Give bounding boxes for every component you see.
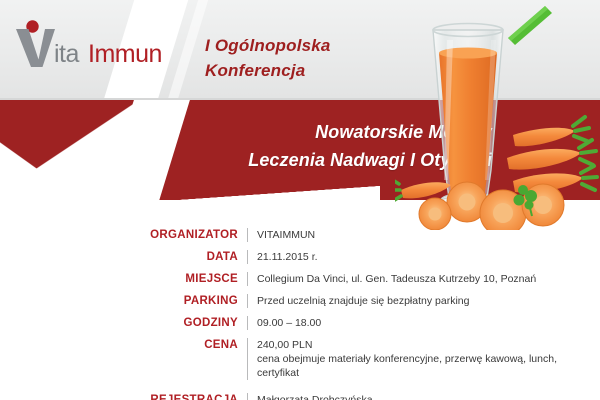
detail-value-miejsce-line1: Collegium Da Vinci, ul. Gen. Tadeusza Ku… <box>257 272 588 286</box>
vitaimmun-logo-icon: ita Immun <box>14 16 164 68</box>
details-table: ORGANIZATOR VITAIMMUN DATA 21.11.2015 r.… <box>128 228 588 400</box>
conference-title-line2: Konferencja <box>205 58 420 83</box>
detail-label-parking: PARKING <box>128 294 247 309</box>
banner-title-line2: Leczenia Nadwagi I Otyłości <box>140 146 492 174</box>
detail-value-rejestracja-line1: Małgorzata Drobczyńska <box>257 393 588 400</box>
table-row: PARKING Przed uczelnią znajduje się bezp… <box>128 294 588 309</box>
detail-label-cena: CENA <box>128 338 247 353</box>
detail-value-cena: 240,00 PLN cena obejmuje materiały konfe… <box>247 338 588 380</box>
conference-poster: ita Immun I Ogólnopolska Konferencja Now… <box>0 0 600 400</box>
detail-label-data: DATA <box>128 250 247 265</box>
detail-label-organizator: ORGANIZATOR <box>128 228 247 243</box>
detail-value-godziny-line1: 09.00 – 18.00 <box>257 316 588 330</box>
banner-title-line1: Nowatorskie Metody <box>140 118 492 146</box>
detail-value-data: 21.11.2015 r. <box>247 250 588 264</box>
detail-value-miejsce: Collegium Da Vinci, ul. Gen. Tadeusza Ku… <box>247 272 588 286</box>
detail-label-miejsce: MIEJSCE <box>128 272 247 287</box>
detail-value-cena-line2: cena obejmuje materiały konferencyjne, p… <box>257 352 588 380</box>
table-row: REJESTRACJA Małgorzata Drobczyńska mdrob… <box>128 393 588 400</box>
table-row: DATA 21.11.2015 r. <box>128 250 588 265</box>
conference-title-line1: I Ogólnopolska <box>205 33 420 58</box>
svg-text:Immun: Immun <box>88 40 162 68</box>
banner-left-wedge-left <box>0 100 80 200</box>
banner-bottom-slant <box>150 186 380 200</box>
detail-value-data-line1: 21.11.2015 r. <box>257 250 588 264</box>
detail-value-parking-line1: Przed uczelnią znajduje się bezpłatny pa… <box>257 294 588 308</box>
detail-label-godziny: GODZINY <box>128 316 247 331</box>
svg-text:ita: ita <box>54 40 80 68</box>
table-row: GODZINY 09.00 – 18.00 <box>128 316 588 331</box>
detail-value-godziny: 09.00 – 18.00 <box>247 316 588 330</box>
vitaimmun-logo[interactable]: ita Immun <box>14 16 164 68</box>
table-row: MIEJSCE Collegium Da Vinci, ul. Gen. Tad… <box>128 272 588 287</box>
table-row: CENA 240,00 PLN cena obejmuje materiały … <box>128 338 588 380</box>
table-row: ORGANIZATOR VITAIMMUN <box>128 228 588 243</box>
detail-value-rejestracja: Małgorzata Drobczyńska mdrobczynska@vita… <box>247 393 588 400</box>
detail-value-organizator-line1: VITAIMMUN <box>257 228 588 242</box>
conference-title: I Ogólnopolska Konferencja <box>205 33 420 83</box>
detail-value-organizator: VITAIMMUN <box>247 228 588 242</box>
detail-value-parking: Przed uczelnią znajduje się bezpłatny pa… <box>247 294 588 308</box>
banner-title: Nowatorskie Metody Leczenia Nadwagi I Ot… <box>140 118 492 174</box>
detail-label-rejestracja: REJESTRACJA <box>128 393 247 400</box>
detail-value-cena-line1: 240,00 PLN <box>257 338 588 352</box>
